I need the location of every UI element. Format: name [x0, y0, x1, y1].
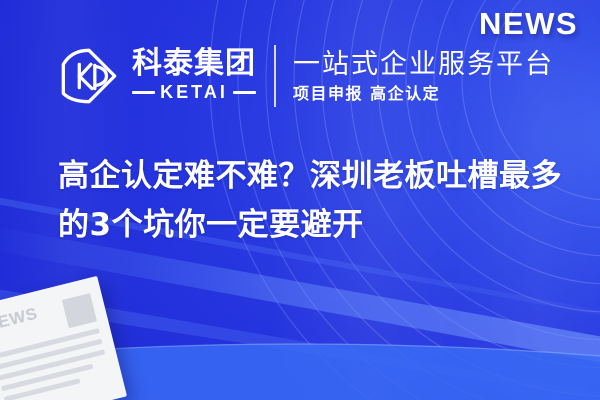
brand-name-cn: 科泰集团 [132, 49, 256, 80]
headline-title: 高企认定难不难？深圳老板吐槽最多的3个坑你一定要避开 [58, 152, 568, 250]
brand-dash-left [132, 91, 155, 94]
brand-slogan-divider [274, 45, 276, 107]
news-banner: NEWS 科泰集团 K [0, 0, 600, 400]
brand-dash-right [233, 91, 256, 94]
slogan-main: 一站式企业服务平台 [293, 49, 554, 80]
newspaper-masthead: NEWS [0, 303, 39, 334]
brand-words: 科泰集团 KETAI [132, 49, 256, 104]
slogan-sub: 项目申报 高企认定 [293, 85, 554, 103]
newspaper-line [4, 378, 81, 400]
image-placeholder-icon [62, 293, 97, 328]
brand-name-en-row: KETAI [132, 82, 256, 103]
banner-header: 科泰集团 KETAI 一站式企业服务平台 项目申报 高企认定 [58, 36, 566, 116]
slogan-block: 一站式企业服务平台 项目申报 高企认定 [293, 49, 554, 103]
ketai-logo-icon [58, 45, 120, 107]
brand-name-en: KETAI [160, 82, 228, 103]
brand-lockup: 科泰集团 KETAI [58, 45, 256, 107]
